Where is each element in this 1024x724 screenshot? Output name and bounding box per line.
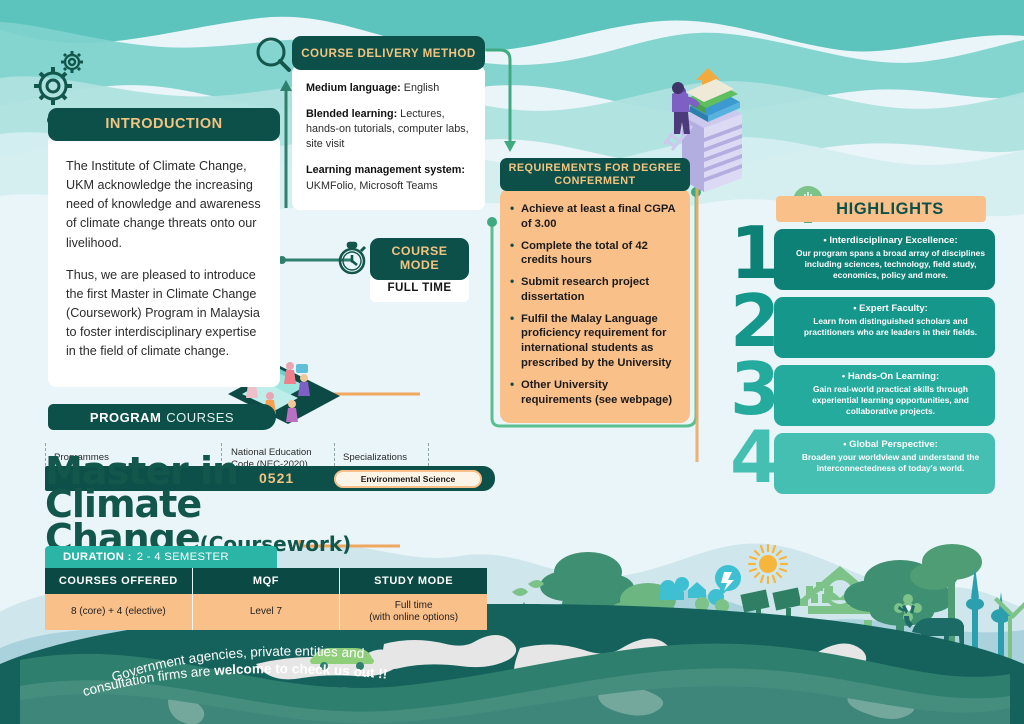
requirement-item: Achieve at least a final CGPA of 3.00 bbox=[510, 202, 677, 232]
duration-value: 2 - 4 SEMESTER bbox=[137, 551, 229, 563]
program-courses-heading-bold: PROGRAM bbox=[90, 410, 161, 425]
introduction-paragraph-1: The Institute of Climate Change, UKM ack… bbox=[66, 157, 262, 253]
course-mode-card: COURSE MODE FULL TIME bbox=[370, 238, 469, 302]
highlight-item: 4 • Global Perspective: Broaden your wor… bbox=[730, 433, 995, 494]
course-delivery-heading: COURSE DELIVERY METHOD bbox=[292, 36, 485, 70]
delivery-row: Learning management system:UKMFolio, Mic… bbox=[306, 163, 471, 193]
program-courses-heading: PROGRAM COURSES bbox=[48, 404, 276, 430]
highlight-bar: • Global Perspective: Broaden your world… bbox=[774, 433, 995, 494]
requirement-item: Complete the total of 42 credits hours bbox=[510, 239, 677, 269]
footer-ribbon-text: Government agencies, private entities an… bbox=[60, 636, 440, 706]
highlight-desc: Broaden your worldview and understand th… bbox=[794, 452, 987, 473]
page-title: Master in Climate Change(Coursework) bbox=[45, 455, 505, 555]
delivery-value: UKMFolio, Microsoft Teams bbox=[306, 180, 438, 192]
highlight-bar: • Interdisciplinary Excellence: Our prog… bbox=[774, 229, 995, 290]
introduction-paragraph-2: Thus, we are pleased to introduce the fi… bbox=[66, 266, 262, 362]
highlight-bar: • Expert Faculty: Learn from distinguish… bbox=[774, 297, 995, 358]
highlight-bar: • Hands-On Learning: Gain real-world pra… bbox=[774, 365, 995, 426]
highlight-title: • Interdisciplinary Excellence: bbox=[794, 235, 987, 246]
table-cell-study-mode: Full time (with online options) bbox=[340, 594, 487, 630]
delivery-label: Learning management system: bbox=[306, 164, 465, 176]
table-header-cell: COURSES OFFERED bbox=[45, 568, 193, 594]
introduction-body: The Institute of Climate Change, UKM ack… bbox=[48, 135, 280, 387]
ribbon-line2b: welcome to check us out !! bbox=[213, 661, 388, 682]
highlight-title: • Hands-On Learning: bbox=[794, 371, 987, 382]
highlight-desc: Gain real-world practical skills through… bbox=[794, 384, 987, 416]
delivery-row: Medium language: English bbox=[306, 81, 471, 96]
table-header-cell: MQF bbox=[193, 568, 341, 594]
requirements-list: Achieve at least a final CGPA of 3.00 Co… bbox=[510, 202, 677, 407]
duration-label: DURATION : bbox=[63, 551, 132, 563]
course-mode-heading: COURSE MODE bbox=[370, 238, 469, 280]
requirement-item: Fulfil the Malay Language proficiency re… bbox=[510, 312, 677, 371]
requirements-heading: REQUIREMENTS FOR DEGREE CONFERMENT bbox=[500, 158, 690, 191]
table-cell-courses-offered: 8 (core) + 4 (elective) bbox=[45, 594, 193, 630]
introduction-heading: INTRODUCTION bbox=[48, 108, 280, 141]
delivery-value: English bbox=[401, 82, 439, 94]
highlights-header: HIGHLIGHTS bbox=[776, 196, 986, 222]
delivery-label: Blended learning: bbox=[306, 108, 397, 120]
duration-bar: DURATION : 2 - 4 SEMESTER bbox=[45, 546, 277, 568]
course-delivery-card: COURSE DELIVERY METHOD Medium language: … bbox=[292, 36, 485, 210]
table-row: 8 (core) + 4 (elective) Level 7 Full tim… bbox=[45, 594, 487, 630]
requirement-item: Other University requirements (see webpa… bbox=[510, 378, 677, 408]
highlight-title: • Global Perspective: bbox=[794, 439, 987, 450]
infographic-poster: INTRODUCTION The Institute of Climate Ch… bbox=[0, 0, 1024, 724]
table-cell-mqf: Level 7 bbox=[193, 594, 341, 630]
study-mode-line2: (with online options) bbox=[369, 612, 458, 623]
requirements-body: Achieve at least a final CGPA of 3.00 Co… bbox=[500, 188, 690, 423]
summary-table: COURSES OFFERED MQF STUDY MODE 8 (core) … bbox=[45, 568, 487, 630]
highlights-section: HIGHLIGHTS 1 • Interdisciplinary Excelle… bbox=[730, 196, 995, 494]
table-header-row: COURSES OFFERED MQF STUDY MODE bbox=[45, 568, 487, 594]
delivery-row: Blended learning: Lectures, hands-on tut… bbox=[306, 107, 471, 152]
highlight-desc: Our program spans a broad array of disci… bbox=[794, 248, 987, 280]
course-delivery-body: Medium language: English Blended learnin… bbox=[292, 65, 485, 210]
highlight-desc: Learn from distinguished scholars and pr… bbox=[794, 316, 987, 337]
introduction-card: INTRODUCTION The Institute of Climate Ch… bbox=[48, 108, 280, 387]
requirement-item: Submit research project dissertation bbox=[510, 275, 677, 305]
delivery-label: Medium language: bbox=[306, 82, 401, 94]
highlights-title: HIGHLIGHTS bbox=[836, 200, 944, 219]
program-courses-heading-normal: COURSES bbox=[166, 410, 234, 425]
highlight-title: • Expert Faculty: bbox=[794, 303, 987, 314]
table-header-cell: STUDY MODE bbox=[340, 568, 487, 594]
study-mode-line1: Full time bbox=[395, 600, 433, 611]
requirements-card: REQUIREMENTS FOR DEGREE CONFERMENT Achie… bbox=[500, 158, 690, 423]
